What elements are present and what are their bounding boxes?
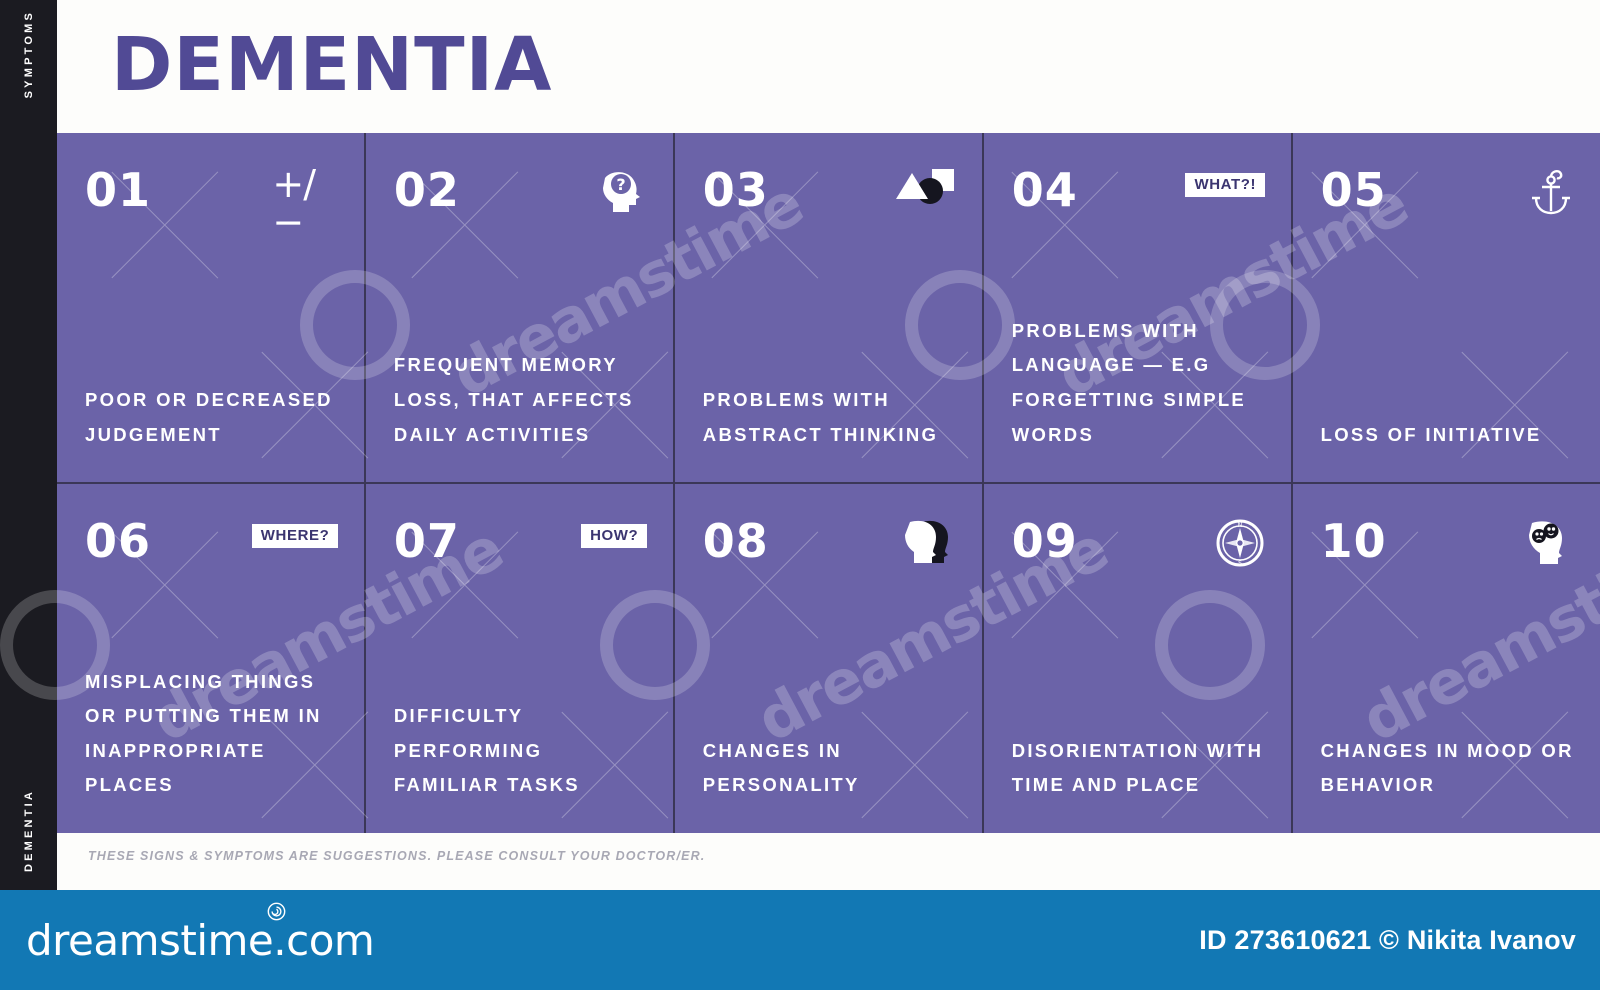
page-title: DEMENTIA bbox=[111, 22, 552, 108]
dreamstime-bar: dreamstime.com ID 273610621 © Nikita Iva… bbox=[0, 890, 1600, 990]
symptom-card[interactable]: 07 HOW? DIFFICULTY PERFORMING FAMILIAR T… bbox=[366, 484, 673, 833]
card-header: 05 bbox=[1321, 167, 1574, 229]
card-number: 10 bbox=[1321, 518, 1387, 564]
symptom-card[interactable]: 05 LOSS OF INITIATIVE bbox=[1293, 133, 1600, 482]
symptom-card[interactable]: 04 WHAT?! PROBLEMS WITH LANGUAGE — E.G F… bbox=[984, 133, 1291, 482]
head-question-mark-icon: ? bbox=[581, 167, 647, 219]
head-two-faces-icon bbox=[1508, 518, 1574, 570]
where-badge-icon: WHERE? bbox=[272, 518, 338, 570]
dreamstime-logo-text: dreamstime.com bbox=[26, 916, 374, 965]
compass-icon: N S bbox=[1199, 518, 1265, 570]
what-badge-label: WHAT?! bbox=[1185, 173, 1265, 197]
card-label: DISORIENTATION WITH TIME AND PLACE bbox=[1012, 734, 1265, 803]
symptom-card[interactable]: 08 CHANGES IN PERSONALITY bbox=[675, 484, 982, 833]
how-badge-label: HOW? bbox=[581, 524, 647, 548]
card-label: PROBLEMS WITH LANGUAGE — E.G FORGETTING … bbox=[1012, 314, 1265, 452]
symptom-card[interactable]: 02 ? FREQUENT MEMORY LOSS, THAT AFFECTS … bbox=[366, 133, 673, 482]
card-header: 04 WHAT?! bbox=[1012, 167, 1265, 229]
two-heads-icon bbox=[890, 518, 956, 570]
card-label: CHANGES IN PERSONALITY bbox=[703, 734, 956, 803]
plus-minus-icon: +/− bbox=[272, 167, 338, 219]
left-rail: SYMPTOMS DEMENTIA bbox=[0, 0, 57, 890]
card-number: 05 bbox=[1321, 167, 1387, 213]
dreamstime-spiral-icon bbox=[267, 902, 286, 921]
symptom-card[interactable]: 10 CHANGES IN MOOD OR BEHAVIOR bbox=[1293, 484, 1600, 833]
geometric-shapes-icon bbox=[890, 167, 956, 219]
rail-label-dementia: DEMENTIA bbox=[23, 789, 35, 872]
card-header: 09 N S bbox=[1012, 518, 1265, 580]
card-header: 10 bbox=[1321, 518, 1574, 580]
dreamstime-credit: ID 273610621 © Nikita Ivanov bbox=[1199, 925, 1576, 956]
card-header: 02 ? bbox=[394, 167, 647, 229]
how-badge-icon: HOW? bbox=[581, 518, 647, 570]
card-number: 06 bbox=[85, 518, 151, 564]
card-label: LOSS OF INITIATIVE bbox=[1321, 418, 1574, 453]
card-number: 04 bbox=[1012, 167, 1078, 213]
symptom-card[interactable]: 03 PROBLEMS WITH ABSTRACT THINKING bbox=[675, 133, 982, 482]
rail-label-symptoms: SYMPTOMS bbox=[23, 10, 35, 98]
card-label: PROBLEMS WITH ABSTRACT THINKING bbox=[703, 383, 956, 452]
card-number: 03 bbox=[703, 167, 769, 213]
card-header: 07 HOW? bbox=[394, 518, 647, 580]
disclaimer-text: THESE SIGNS & SYMPTOMS ARE SUGGESTIONS. … bbox=[88, 849, 705, 863]
card-header: 06 WHERE? bbox=[85, 518, 338, 580]
header: DEMENTIA bbox=[57, 0, 1600, 133]
symptom-card[interactable]: 09 N S DISORIENTATION WITH TIME AND PLAC… bbox=[984, 484, 1291, 833]
card-label: CHANGES IN MOOD OR BEHAVIOR bbox=[1321, 734, 1574, 803]
card-number: 09 bbox=[1012, 518, 1078, 564]
card-number: 01 bbox=[85, 167, 151, 213]
svg-text:S: S bbox=[1238, 560, 1242, 567]
symptom-card[interactable]: 01 +/− POOR OR DECREASED JUDGEMENT bbox=[57, 133, 364, 482]
card-number: 02 bbox=[394, 167, 460, 213]
card-number: 08 bbox=[703, 518, 769, 564]
card-header: 08 bbox=[703, 518, 956, 580]
svg-text:N: N bbox=[1238, 522, 1243, 529]
dreamstime-logo: dreamstime.com bbox=[26, 916, 374, 965]
card-header: 03 bbox=[703, 167, 956, 229]
card-label: DIFFICULTY PERFORMING FAMILIAR TASKS bbox=[394, 699, 647, 803]
card-label: MISPLACING THINGS OR PUTTING THEM IN INA… bbox=[85, 665, 338, 803]
what-badge-icon: WHAT?! bbox=[1199, 167, 1265, 219]
card-header: 01 +/− bbox=[85, 167, 338, 229]
card-number: 07 bbox=[394, 518, 460, 564]
svg-text:?: ? bbox=[617, 175, 626, 194]
card-label: POOR OR DECREASED JUDGEMENT bbox=[85, 383, 338, 452]
card-label: FREQUENT MEMORY LOSS, THAT AFFECTS DAILY… bbox=[394, 348, 647, 452]
anchor-icon bbox=[1508, 167, 1574, 219]
where-badge-label: WHERE? bbox=[252, 524, 339, 548]
symptom-card[interactable]: 06 WHERE? MISPLACING THINGS OR PUTTING T… bbox=[57, 484, 364, 833]
plus-minus-glyph: +/− bbox=[272, 165, 338, 241]
symptom-card-grid: 01 +/− POOR OR DECREASED JUDGEMENT 02 ? … bbox=[57, 133, 1600, 833]
disclaimer-bar: THESE SIGNS & SYMPTOMS ARE SUGGESTIONS. … bbox=[57, 833, 1600, 890]
